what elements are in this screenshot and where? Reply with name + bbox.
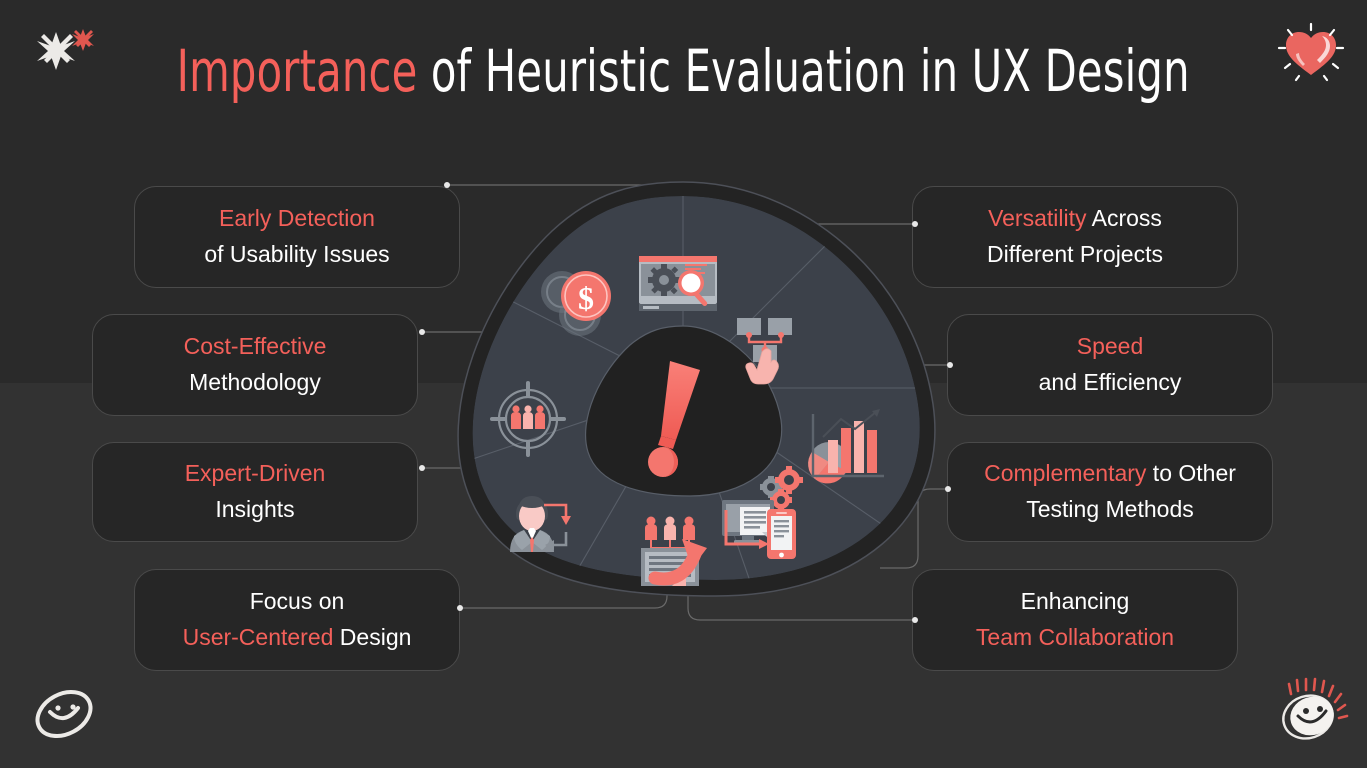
card-user-centered[interactable]: Focus on User-Centered Design bbox=[134, 569, 460, 671]
card-line-2: Team Collaboration bbox=[976, 620, 1174, 656]
card-complementary[interactable]: Complementary to Other Testing Methods bbox=[947, 442, 1273, 542]
card-cost-effective[interactable]: Cost-Effective Methodology bbox=[92, 314, 418, 416]
smiley-oval-outline-icon bbox=[30, 683, 98, 745]
infographic-canvas: Importance of Heuristic Evaluation in UX… bbox=[0, 0, 1367, 768]
connector-dot-versatility bbox=[912, 221, 918, 227]
smiley-rays-icon bbox=[1278, 679, 1347, 745]
connector-dot-complementary bbox=[945, 486, 951, 492]
connector-dot-team-collaboration bbox=[912, 617, 918, 623]
title-accent-word: Importance bbox=[177, 37, 418, 105]
connector-dot-early-detection bbox=[444, 182, 450, 188]
card-line-1: Cost-Effective bbox=[184, 329, 327, 365]
connector-dot-expert-driven bbox=[419, 465, 425, 471]
card-line-1: Expert-Driven bbox=[185, 456, 326, 492]
card-line-2: and Efficiency bbox=[1039, 365, 1182, 401]
card-early-detection[interactable]: Early Detection of Usability Issues bbox=[134, 186, 460, 288]
card-versatility[interactable]: Versatility Across Different Projects bbox=[912, 186, 1238, 288]
card-speed[interactable]: Speed and Efficiency bbox=[947, 314, 1273, 416]
card-line-2: of Usability Issues bbox=[204, 237, 389, 273]
card-line-2: Testing Methods bbox=[1026, 492, 1193, 528]
card-line-1: Versatility Across bbox=[988, 201, 1162, 237]
card-line-1: Complementary to Other bbox=[984, 456, 1236, 492]
card-expert-driven[interactable]: Expert-Driven Insights bbox=[92, 442, 418, 542]
connector-dot-user-centered bbox=[457, 605, 463, 611]
card-line-1: Enhancing bbox=[1021, 584, 1130, 620]
card-line-2: Methodology bbox=[189, 365, 321, 401]
connector-dot-speed bbox=[947, 362, 953, 368]
card-line-1: Early Detection bbox=[219, 201, 375, 237]
card-line-1: Speed bbox=[1077, 329, 1144, 365]
card-line-2: Different Projects bbox=[987, 237, 1163, 273]
title-rest: of Heuristic Evaluation in UX Design bbox=[418, 37, 1190, 105]
page-title: Importance of Heuristic Evaluation in UX… bbox=[0, 40, 1367, 104]
connector-dot-cost-effective bbox=[419, 329, 425, 335]
card-line-2: User-Centered Design bbox=[183, 620, 412, 656]
card-line-1: Focus on bbox=[250, 584, 345, 620]
card-line-2: Insights bbox=[215, 492, 294, 528]
card-team-collaboration[interactable]: Enhancing Team Collaboration bbox=[912, 569, 1238, 671]
